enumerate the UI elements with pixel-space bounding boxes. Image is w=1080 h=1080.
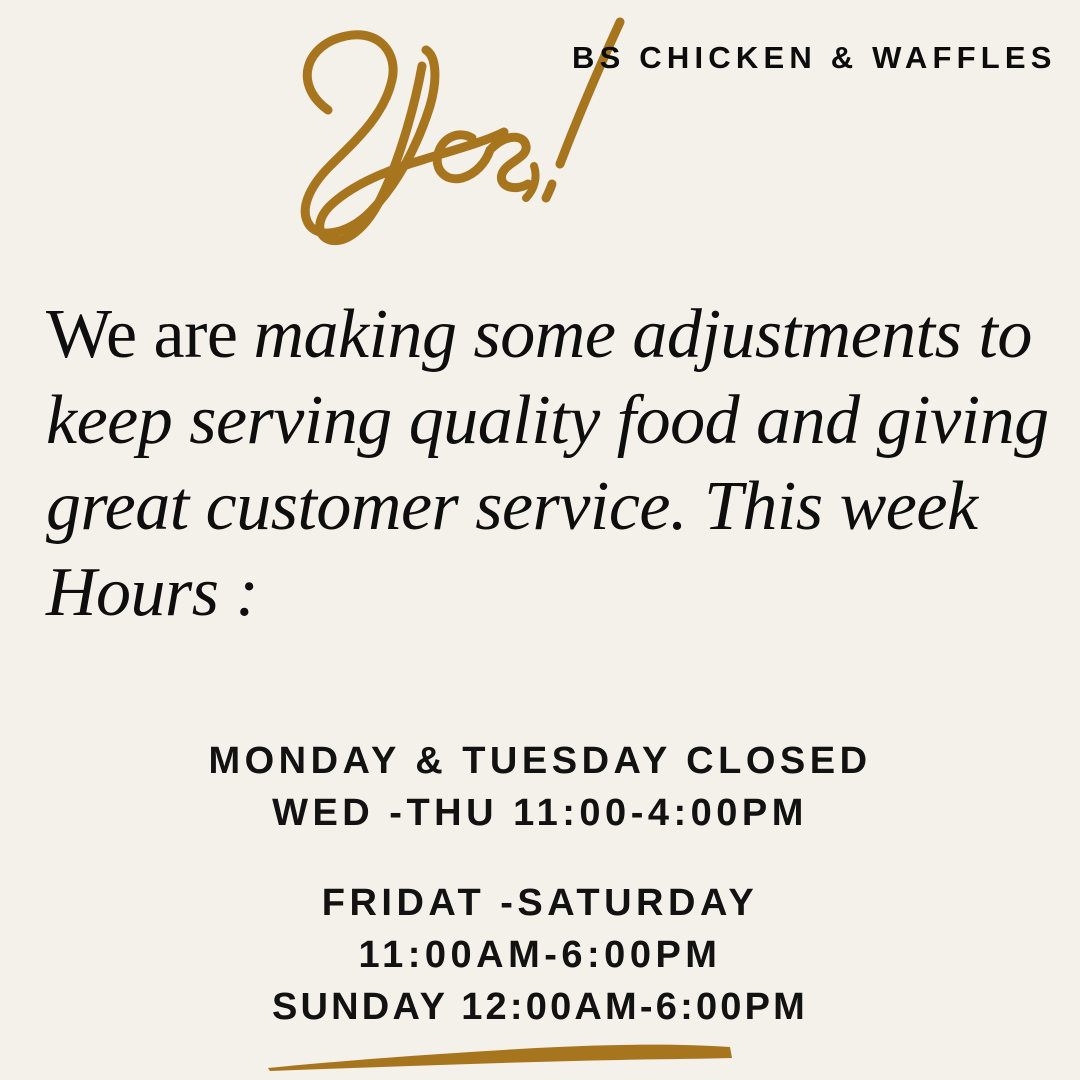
paragraph-line-2: keep serving quality food and giving <box>46 378 1046 464</box>
paragraph-line-3: great customer service. This week <box>46 464 1046 550</box>
hours-line-friday-saturday-times: 11:00AM-6:00PM <box>0 929 1080 981</box>
promo-poster: BS CHICKEN & WAFFLES We aremaking some a… <box>0 0 1080 1080</box>
hours-line-wed-thu: WED -THU 11:00-4:00PM <box>0 787 1080 839</box>
hours-group-early-week: MONDAY & TUESDAY CLOSED WED -THU 11:00-4… <box>0 735 1080 839</box>
paragraph-line-1-italic: making some adjustments to <box>253 296 1031 373</box>
poster-header: BS CHICKEN & WAFFLES <box>0 0 1080 260</box>
paragraph-line-1: We aremaking some adjustments to <box>46 292 1046 378</box>
hours-group-weekend: FRIDAT -SATURDAY 11:00AM-6:00PM SUNDAY 1… <box>0 877 1080 1033</box>
paragraph-line-1-roman: We are <box>46 296 237 373</box>
business-hours-block: MONDAY & TUESDAY CLOSED WED -THU 11:00-4… <box>0 735 1080 1033</box>
hours-line-monday-tuesday: MONDAY & TUESDAY CLOSED <box>0 735 1080 787</box>
brand-title: BS CHICKEN & WAFFLES <box>572 42 1057 73</box>
paragraph-line-4: Hours : <box>46 550 1046 636</box>
announcement-paragraph: We aremaking some adjustments to keep se… <box>46 292 1046 636</box>
hours-line-friday-saturday: FRIDAT -SATURDAY <box>0 877 1080 929</box>
gold-brush-underline-icon <box>260 1034 750 1080</box>
hours-line-sunday: SUNDAY 12:00AM-6:00PM <box>0 981 1080 1033</box>
